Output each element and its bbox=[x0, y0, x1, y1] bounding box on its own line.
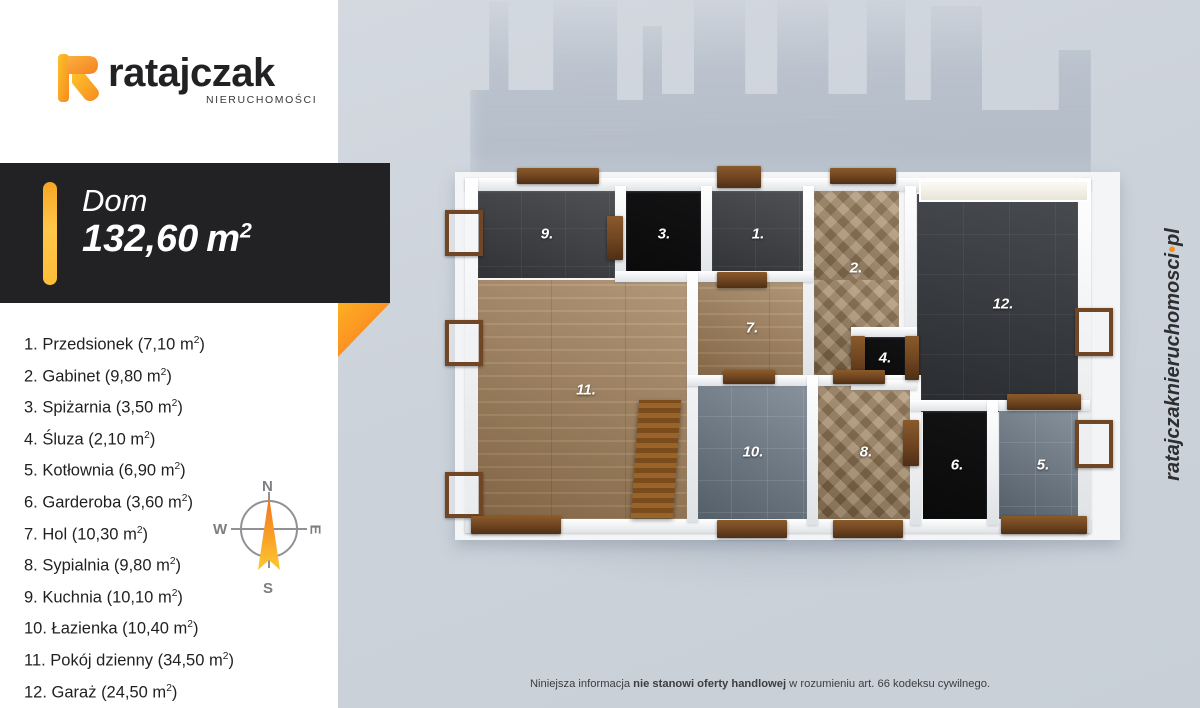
room-legend-number: 3. bbox=[24, 399, 42, 417]
plan-room-6: 6. bbox=[923, 410, 991, 520]
footer-pre: Niniejsza informacja bbox=[530, 678, 633, 690]
room-legend-number: 12. bbox=[24, 683, 52, 701]
room-legend-name: Gabinet bbox=[42, 367, 104, 385]
plan-window-left-upper bbox=[445, 210, 483, 256]
room-legend-area: (24,50 m bbox=[101, 683, 166, 701]
plan-door-hall-top bbox=[717, 166, 761, 188]
plan-room-3-number: 3. bbox=[658, 226, 671, 243]
room-legend-area: (7,10 m bbox=[138, 336, 194, 354]
plan-door-airlock-right bbox=[905, 336, 919, 380]
plan-door-bedroom bbox=[833, 370, 885, 384]
plan-room-8-number: 8. bbox=[860, 444, 873, 461]
compass-label-south: S bbox=[263, 580, 273, 597]
plan-wall-i11 bbox=[987, 400, 998, 525]
plan-window-right bbox=[1075, 420, 1113, 468]
room-legend-name: Hol bbox=[42, 525, 71, 543]
banner-area-exponent: 2 bbox=[240, 218, 252, 242]
room-legend-name: Sypialnia bbox=[42, 557, 114, 575]
plan-window-left-lower bbox=[445, 320, 483, 366]
plan-room-5: 5. bbox=[999, 410, 1087, 520]
plan-wall-i6 bbox=[687, 272, 698, 522]
plan-window-left-bottom bbox=[445, 472, 483, 518]
room-legend-number: 1. bbox=[24, 336, 42, 354]
room-legend-area: (6,90 m bbox=[119, 462, 175, 480]
room-legend-number: 7. bbox=[24, 525, 42, 543]
room-legend-area: (3,50 m bbox=[116, 399, 172, 417]
plan-room-12-number: 12. bbox=[993, 296, 1014, 313]
plan-garage-door bbox=[919, 180, 1089, 202]
room-legend-area: (10,10 m bbox=[107, 588, 172, 606]
room-legend-item: 12. Garaż (24,50 m2) bbox=[24, 684, 324, 701]
room-legend-area: (9,80 m bbox=[114, 557, 170, 575]
plan-wall-i2 bbox=[701, 186, 712, 282]
room-legend-area-close: ) bbox=[143, 525, 149, 543]
room-legend-name: Przedsionek bbox=[42, 336, 137, 354]
room-legend-area-close: ) bbox=[228, 651, 234, 669]
plan-window-right-upper bbox=[1075, 308, 1113, 356]
watermark-tld: pl bbox=[1162, 228, 1184, 246]
room-legend-area: (10,30 m bbox=[72, 525, 137, 543]
plan-door-bathroom bbox=[723, 370, 775, 384]
plan-door-boiler-ext bbox=[1001, 516, 1087, 534]
room-legend-number: 9. bbox=[24, 588, 42, 606]
room-legend-item: 11. Pokój dzienny (34,50 m2) bbox=[24, 652, 324, 669]
room-legend-area: (10,40 m bbox=[122, 620, 187, 638]
compass-label-west: W bbox=[213, 521, 227, 538]
room-legend-number: 4. bbox=[24, 430, 42, 448]
plan-door-kitchen-top bbox=[517, 168, 599, 184]
plan-room-7-number: 7. bbox=[746, 320, 759, 337]
plan-door-bedroom-ext bbox=[833, 520, 903, 538]
room-legend-name: Pokój dzienny bbox=[50, 651, 157, 669]
room-legend-area: (34,50 m bbox=[158, 651, 223, 669]
room-legend-area-close: ) bbox=[176, 557, 182, 575]
room-legend-area-close: ) bbox=[177, 588, 183, 606]
room-legend-number: 8. bbox=[24, 557, 42, 575]
room-legend-area: (9,80 m bbox=[105, 367, 161, 385]
plan-room-9-number: 9. bbox=[541, 226, 554, 243]
room-legend-name: Garderoba bbox=[42, 493, 125, 511]
logo-wordmark: ratajczak bbox=[108, 53, 275, 93]
room-legend-number: 2. bbox=[24, 367, 42, 385]
plan-room-9: 9. bbox=[477, 190, 617, 278]
plan-room-10: 10. bbox=[695, 384, 811, 520]
plan-room-6-number: 6. bbox=[951, 457, 964, 474]
plan-room-1-number: 1. bbox=[752, 226, 765, 243]
room-legend-area: (2,10 m bbox=[88, 430, 144, 448]
plan-wall-i8 bbox=[807, 375, 818, 525]
footer-post: w rozumieniu art. 66 kodeksu cywilnego. bbox=[786, 678, 990, 690]
plan-room-11-number: 11. bbox=[576, 382, 596, 399]
plan-door-office-top bbox=[830, 168, 896, 184]
room-legend-number: 5. bbox=[24, 462, 42, 480]
room-legend-name: Łazienka bbox=[52, 620, 123, 638]
compass-label-north: N bbox=[262, 478, 273, 495]
plan-staircase bbox=[631, 400, 681, 518]
plan-room-3: 3. bbox=[625, 190, 703, 278]
room-legend-item: 1. Przedsionek (7,10 m2) bbox=[24, 336, 324, 353]
banner-area-unit: m bbox=[206, 218, 240, 260]
room-legend-item: 5. Kotłownia (6,90 m2) bbox=[24, 462, 324, 479]
room-legend-name: Kotłownia bbox=[42, 462, 118, 480]
site-watermark: ratajczaknieruchomosci•pl bbox=[1150, 0, 1196, 708]
plan-room-12: 12. bbox=[917, 194, 1089, 412]
logo-r-mark bbox=[58, 52, 100, 104]
watermark-dot: • bbox=[1162, 245, 1184, 252]
watermark-main: ratajczaknieruchomosci bbox=[1162, 252, 1184, 480]
plan-wall-i5 bbox=[615, 271, 813, 282]
room-legend-item: 3. Spiżarnia (3,50 m2) bbox=[24, 399, 324, 416]
plan-room-8: 8. bbox=[817, 384, 915, 520]
room-legend-area-close: ) bbox=[180, 462, 186, 480]
compass-rose: N S W E bbox=[213, 478, 325, 600]
plan-door-living-ext bbox=[471, 516, 561, 534]
banner-accent-bar bbox=[43, 182, 57, 285]
plan-door-boiler-top bbox=[1007, 394, 1081, 410]
footer-disclaimer: Niniejsza informacja nie stanowi oferty … bbox=[400, 678, 1120, 690]
plan-door-vestibule bbox=[717, 272, 767, 288]
plan-room-10-number: 10. bbox=[743, 444, 764, 461]
room-legend-area-close: ) bbox=[193, 620, 199, 638]
room-legend-area-close: ) bbox=[150, 430, 156, 448]
banner-area-value: 132,60 bbox=[82, 218, 198, 260]
room-legend-area-close: ) bbox=[177, 399, 183, 417]
room-legend-item: 10. Łazienka (10,40 m2) bbox=[24, 620, 324, 637]
footer-bold: nie stanowi oferty handlowej bbox=[633, 678, 786, 690]
plan-room-4-number: 4. bbox=[879, 350, 892, 367]
watermark-text: ratajczaknieruchomosci•pl bbox=[1162, 228, 1185, 481]
banner-area: 132,60m2 bbox=[82, 220, 252, 258]
logo-tagline: NIERUCHOMOŚCI bbox=[206, 94, 317, 106]
plan-door-bathroom-ext bbox=[717, 520, 787, 538]
room-legend-item: 2. Gabinet (9,80 m2) bbox=[24, 368, 324, 385]
brand-logo[interactable]: ratajczak NIERUCHOMOŚCI bbox=[58, 52, 288, 114]
room-legend-name: Garaż bbox=[52, 683, 102, 701]
compass-label-east: E bbox=[307, 524, 324, 534]
plan-room-2-number: 2. bbox=[850, 260, 863, 277]
room-legend-item: 4. Śluza (2,10 m2) bbox=[24, 431, 324, 448]
room-legend-area-close: ) bbox=[187, 493, 193, 511]
room-legend-area-close: ) bbox=[172, 683, 178, 701]
floor-plan-render: 9. 3. 1. 2. 12. 11. 7. 4. 10. 8. 6. 5. bbox=[455, 172, 1120, 540]
building-cast-shadow bbox=[470, 0, 1110, 190]
room-legend-number: 6. bbox=[24, 493, 42, 511]
compass-needle-icon bbox=[253, 496, 285, 576]
room-legend-area-close: ) bbox=[166, 367, 172, 385]
room-legend-area-close: ) bbox=[199, 336, 205, 354]
plan-room-5-number: 5. bbox=[1037, 457, 1050, 474]
room-legend-number: 10. bbox=[24, 620, 52, 638]
room-legend-name: Śluza bbox=[42, 430, 88, 448]
plan-room-1: 1. bbox=[711, 190, 805, 278]
room-legend-name: Kuchnia bbox=[42, 588, 106, 606]
plan-door-pantry bbox=[607, 216, 623, 260]
room-legend-area: (3,60 m bbox=[126, 493, 182, 511]
room-legend-number: 11. bbox=[24, 651, 50, 669]
title-banner: Dom 132,60m2 bbox=[0, 163, 390, 303]
plan-room-7: 7. bbox=[695, 280, 809, 380]
plan-wall-i3 bbox=[803, 186, 814, 386]
room-legend-name: Spiżarnia bbox=[42, 399, 115, 417]
banner-label: Dom bbox=[82, 185, 147, 216]
plan-door-wardrobe bbox=[903, 420, 919, 466]
